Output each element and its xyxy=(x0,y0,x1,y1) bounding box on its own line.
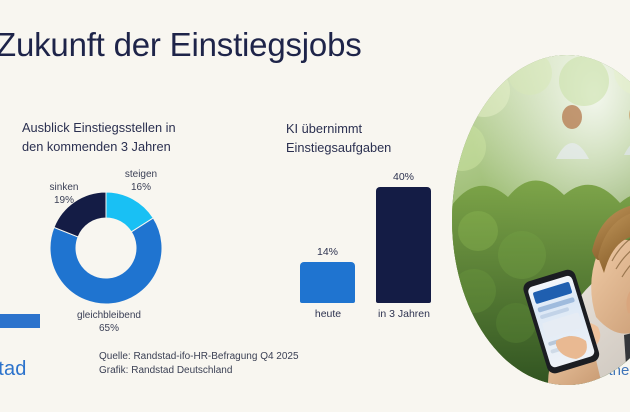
source-note: Quelle: Randstad-ifo-HR-Befragung Q4 202… xyxy=(99,350,299,377)
hero-photo xyxy=(452,55,630,385)
bar-category-label: in 3 Jahren xyxy=(369,308,439,320)
bar-rect xyxy=(376,187,431,303)
hero-photo-illustration xyxy=(452,55,630,385)
bar-chart: 14% heute 40% in 3 Jahren xyxy=(296,170,456,325)
infographic-canvas: Zukunft der Einstiegsjobs Ausblick Einst… xyxy=(0,0,630,412)
donut-chart-title: Ausblick Einstiegsstellen in den kommend… xyxy=(22,118,176,156)
bar-chart-title: KI übernimmt Einstiegsaufgaben xyxy=(286,119,391,157)
bar-rect xyxy=(300,262,355,303)
randstad-logo-wordmark: stad xyxy=(0,358,27,381)
page-title: Zukunft der Einstiegsjobs xyxy=(0,26,362,64)
bar-column: 14% heute xyxy=(300,262,355,303)
bar-column: 40% in 3 Jahren xyxy=(376,187,431,303)
randstad-logo-icon xyxy=(0,306,42,350)
donut-label-steigen: steigen 16% xyxy=(112,168,170,194)
donut-label-gleichbleibend: gleichbleibend 65% xyxy=(63,309,155,335)
bar-category-label: heute xyxy=(293,308,363,320)
donut-label-sinken: sinken 19% xyxy=(38,181,90,207)
bar-value-label: 14% xyxy=(300,246,355,258)
bar-value-label: 40% xyxy=(376,171,431,183)
